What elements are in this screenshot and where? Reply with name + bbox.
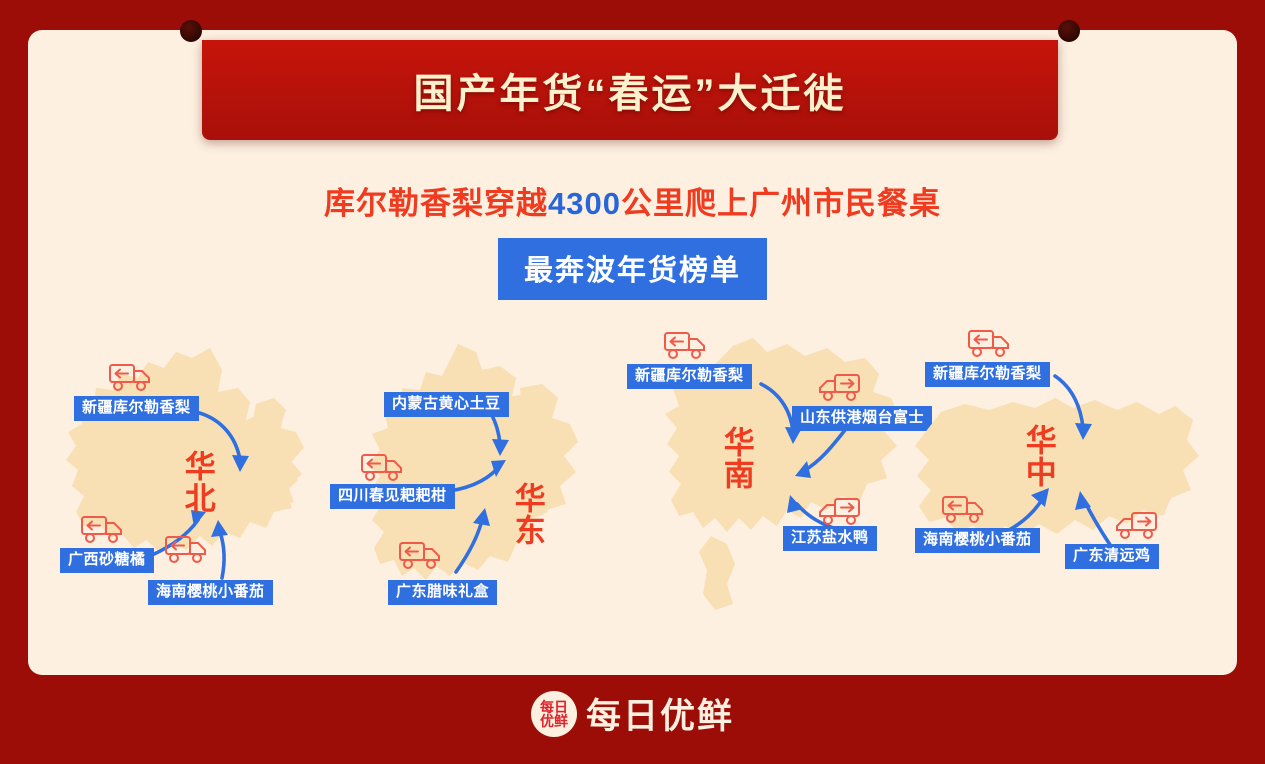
scroll-rod-cap-left [180, 20, 202, 42]
product-label: 新疆库尔勒香梨 [74, 396, 199, 421]
product-label: 四川春见耙耙柑 [330, 484, 455, 509]
banner-title: 国产年货“春运”大迁徙 [414, 61, 847, 119]
scroll-banner: 国产年货“春运”大迁徙 [186, 18, 1074, 143]
product-label: 新疆库尔勒香梨 [925, 362, 1050, 387]
brand-logo-badge: 每日 优鲜 [531, 691, 577, 737]
truck-icon [663, 328, 709, 360]
region-name-huadong: 华东 [512, 482, 542, 546]
brand-name: 每日优鲜 [586, 688, 734, 739]
truck-icon [108, 360, 154, 392]
product-label: 广东腊味礼盒 [388, 580, 497, 605]
flow-arrows-huanan [615, 318, 935, 618]
product-label: 新疆库尔勒香梨 [627, 364, 752, 389]
truck-icon [815, 370, 861, 402]
truck-icon [360, 450, 406, 482]
scroll-rod-cap-right [1058, 20, 1080, 42]
product-label: 江苏盐水鸭 [783, 526, 877, 551]
product-label: 广西砂糖橘 [60, 548, 154, 573]
truck-icon [164, 532, 210, 564]
product-label: 内蒙古黄心土豆 [384, 392, 509, 417]
panel-huadong: 华东 内蒙古黄心土豆 四川春见耙耙柑 广东腊味礼盒 [330, 340, 620, 620]
ranking-badge: 最奔波年货榜单 [0, 238, 1265, 300]
truck-icon [80, 512, 126, 544]
map-silhouette-huanan [615, 318, 935, 618]
region-name-huazhong: 华中 [1023, 424, 1053, 488]
region-name-huanan: 华南 [721, 426, 751, 490]
product-label: 海南樱桃小番茄 [148, 580, 273, 605]
headline-prefix: 库尔勒香梨穿越 [324, 186, 548, 221]
region-name-huabei: 华北 [182, 450, 212, 514]
product-label: 广东清远鸡 [1065, 544, 1159, 569]
footer-brand: 每日 优鲜 每日优鲜 [0, 688, 1265, 739]
truck-icon [398, 538, 444, 570]
truck-icon [941, 492, 987, 524]
brand-badge-line2: 优鲜 [540, 714, 568, 728]
brand-badge-line1: 每日 [540, 700, 568, 714]
headline: 库尔勒香梨穿越4300公里爬上广州市民餐桌 [0, 178, 1265, 223]
truck-icon [1112, 508, 1158, 540]
product-label: 海南樱桃小番茄 [915, 528, 1040, 553]
ranking-badge-label: 最奔波年货榜单 [498, 238, 767, 300]
headline-suffix: 公里爬上广州市民餐桌 [621, 186, 941, 221]
panel-huazhong: 华中 新疆库尔勒香梨 海南樱桃小番茄 广东清远鸡 [905, 318, 1205, 618]
truck-icon [967, 326, 1013, 358]
panel-huanan: 华南 新疆库尔勒香梨 山东供港烟台富士 江苏盐水鸭 [615, 318, 935, 618]
truck-icon [815, 494, 861, 526]
banner-body: 国产年货“春运”大迁徙 [202, 40, 1058, 140]
panel-huabei: 华北 新疆库尔勒香梨 广西砂糖橘 海南樱桃小番茄 [60, 340, 360, 620]
headline-distance-number: 4300 [548, 186, 621, 221]
